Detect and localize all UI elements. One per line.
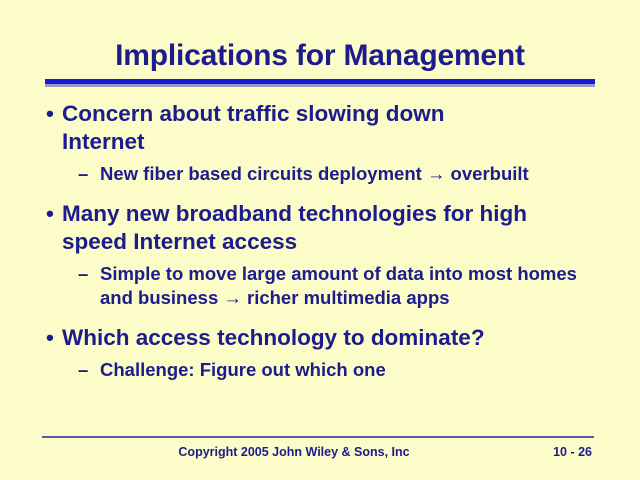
bullet-level1: • Concern about traffic slowing down Int… bbox=[38, 100, 618, 156]
copyright-text: Copyright 2005 John Wiley & Sons, Inc bbox=[42, 442, 594, 462]
bullet-level2: – Simple to move large amount of data in… bbox=[78, 262, 618, 310]
title-block: Implications for Management bbox=[45, 38, 595, 87]
footer: Copyright 2005 John Wiley & Sons, Inc 10… bbox=[42, 442, 594, 462]
bullet-level1-label: Concern about traffic slowing down Inter… bbox=[62, 100, 532, 156]
footer-divider bbox=[42, 436, 594, 438]
slide: Implications for Management • Concern ab… bbox=[0, 0, 640, 480]
bullet-dot-icon: • bbox=[38, 100, 62, 128]
page-title: Implications for Management bbox=[45, 38, 595, 74]
bullet-level1-label: Many new broadband technologies for high… bbox=[62, 200, 532, 256]
bullet-level2-label: Simple to move large amount of data into… bbox=[100, 262, 600, 310]
page-number: 10 - 26 bbox=[553, 442, 592, 462]
bullet-level1: • Which access technology to dominate? bbox=[38, 324, 618, 352]
slide-body: • Concern about traffic slowing down Int… bbox=[38, 100, 618, 384]
bullet-level2: – New fiber based circuits deployment → … bbox=[78, 162, 618, 186]
bullet-dash-icon: – bbox=[78, 162, 100, 186]
bullet-dot-icon: • bbox=[38, 200, 62, 228]
bullet-dash-icon: – bbox=[78, 262, 100, 286]
bullet-group-2: • Many new broadband technologies for hi… bbox=[38, 200, 618, 310]
bullet-level1-label: Which access technology to dominate? bbox=[62, 324, 532, 352]
bullet-group-1: • Concern about traffic slowing down Int… bbox=[38, 100, 618, 186]
bullet-level1: • Many new broadband technologies for hi… bbox=[38, 200, 618, 256]
bullet-group-3: • Which access technology to dominate? –… bbox=[38, 324, 618, 382]
bullet-dash-icon: – bbox=[78, 358, 100, 382]
bullet-level2-label: New fiber based circuits deployment → ov… bbox=[100, 162, 600, 186]
bullet-level2: – Challenge: Figure out which one bbox=[78, 358, 618, 382]
title-underline-shadow bbox=[45, 84, 595, 87]
bullet-dot-icon: • bbox=[38, 324, 62, 352]
bullet-level2-label: Challenge: Figure out which one bbox=[100, 358, 600, 382]
